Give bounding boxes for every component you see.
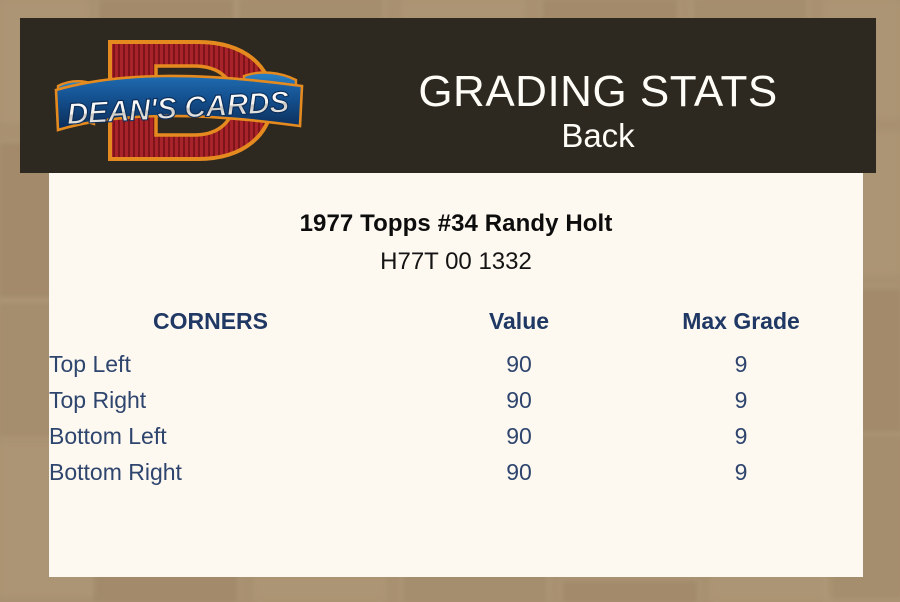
corner-value: 90 bbox=[419, 383, 619, 419]
table-row: Bottom Right909 bbox=[49, 455, 863, 491]
table-row: Bottom Left909 bbox=[49, 419, 863, 455]
page-header-bar: DEAN'S CARDS GRADING STATS Back bbox=[20, 18, 876, 173]
corner-label: Top Left bbox=[49, 347, 419, 383]
corner-max-grade: 9 bbox=[619, 419, 863, 455]
corner-value: 90 bbox=[419, 455, 619, 491]
card-serial-number: H77T 00 1332 bbox=[49, 248, 863, 276]
deans-cards-logo: DEAN'S CARDS bbox=[48, 28, 313, 173]
page-subtitle: Back bbox=[561, 117, 634, 155]
corner-value: 90 bbox=[419, 419, 619, 455]
stats-table-body: Top Left909Top Right909Bottom Left909Bot… bbox=[49, 347, 863, 491]
corner-label: Bottom Left bbox=[49, 419, 419, 455]
stats-header-row: CORNERS Value Max Grade bbox=[49, 308, 863, 347]
content-panel: 1977 Topps #34 Randy Holt H77T 00 1332 C… bbox=[49, 173, 863, 577]
card-description: 1977 Topps #34 Randy Holt bbox=[49, 210, 863, 238]
table-row: Top Left909 bbox=[49, 347, 863, 383]
column-header-max-grade: Max Grade bbox=[619, 308, 863, 347]
page-title: GRADING STATS bbox=[418, 70, 777, 115]
column-header-value: Value bbox=[419, 308, 619, 347]
corner-value: 90 bbox=[419, 347, 619, 383]
column-header-corners: CORNERS bbox=[49, 308, 419, 347]
corner-max-grade: 9 bbox=[619, 383, 863, 419]
corner-max-grade: 9 bbox=[619, 347, 863, 383]
stats-table-header: CORNERS Value Max Grade bbox=[49, 308, 863, 347]
corner-label: Bottom Right bbox=[49, 455, 419, 491]
table-row: Top Right909 bbox=[49, 383, 863, 419]
grading-stats-page: DEAN'S CARDS GRADING STATS Back 1977 Top… bbox=[0, 0, 900, 602]
grading-stats-table: CORNERS Value Max Grade Top Left909Top R… bbox=[49, 308, 863, 491]
corner-label: Top Right bbox=[49, 383, 419, 419]
corner-max-grade: 9 bbox=[619, 455, 863, 491]
header-title-block: GRADING STATS Back bbox=[320, 18, 876, 173]
